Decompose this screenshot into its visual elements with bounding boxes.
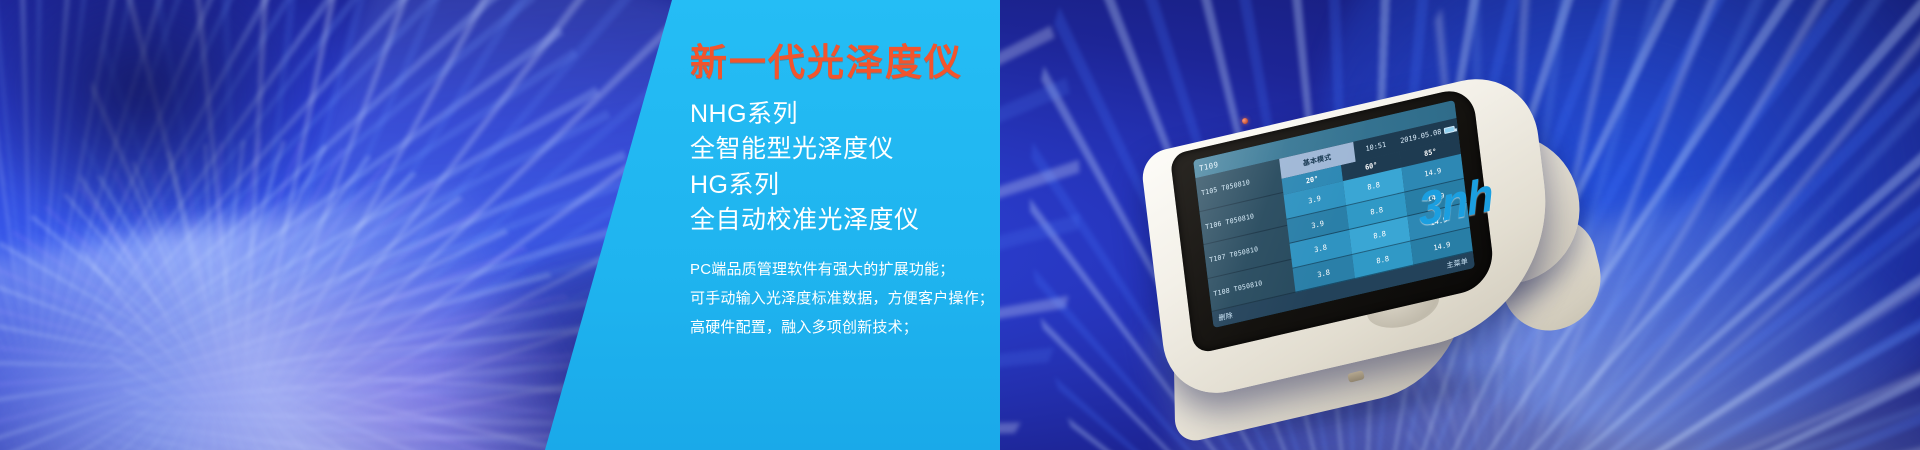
copy-block: 新一代光泽度仪 NHG系列 全智能型光泽度仪 HG系列 全自动校准光泽度仪 PC… [690,44,1120,343]
page-title: 新一代光泽度仪 [690,44,1120,83]
subheading-nhg-series: NHG系列 [690,97,1120,133]
screen-title: T109 [1199,159,1219,172]
delete-button[interactable]: 删除 [1218,310,1233,323]
feature-list: PC端品质管理软件有强大的扩展功能； 可手动输入光泽度标准数据，方便客户操作； … [690,255,1120,343]
subheading-nhg-desc: 全智能型光泽度仪 [690,132,1120,168]
indicator-led [1241,117,1248,124]
feature-line-1: PC端品质管理软件有强大的扩展功能； [690,255,1120,284]
main-menu-button[interactable]: 主菜单 [1446,256,1469,271]
record-name-column: T105 T050810 T106 T050810 T107 T050810 T… [1195,159,1295,312]
feature-line-2: 可手动输入光泽度标准数据，方便客户操作； [690,284,1120,313]
battery-icon [1444,126,1455,134]
subheading-hg-desc: 全自动校准光泽度仪 [690,203,1120,239]
feature-line-3: 高硬件配置，融入多项创新技术； [690,313,1120,342]
subheading-hg-series: HG系列 [690,168,1120,204]
promo-banner: 新一代光泽度仪 NHG系列 全智能型光泽度仪 HG系列 全自动校准光泽度仪 PC… [0,0,1920,450]
